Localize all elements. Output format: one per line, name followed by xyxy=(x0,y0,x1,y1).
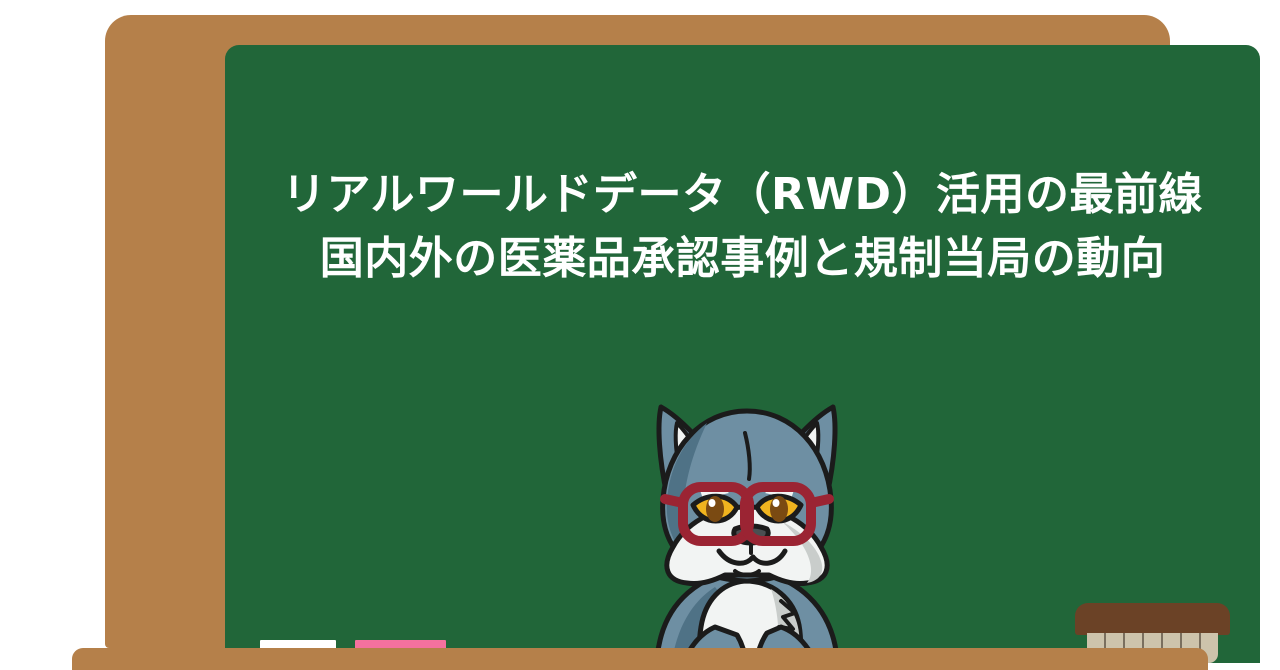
blackboard-surface: リアルワールドデータ（RWD）活用の最前線 国内外の医薬品承認事例と規制当局の動… xyxy=(225,45,1260,663)
blackboard-frame: リアルワールドデータ（RWD）活用の最前線 国内外の医薬品承認事例と規制当局の動… xyxy=(105,15,1170,648)
title-line-1: リアルワールドデータ（RWD）活用の最前線 xyxy=(225,163,1260,227)
chalk-ledge xyxy=(72,648,1208,670)
page-title: リアルワールドデータ（RWD）活用の最前線 国内外の医薬品承認事例と規制当局の動… xyxy=(225,163,1260,291)
eraser-handle xyxy=(1075,603,1230,635)
title-line-2: 国内外の医薬品承認事例と規制当局の動向 xyxy=(225,227,1260,291)
wolf-mascot-illustration xyxy=(595,375,895,663)
